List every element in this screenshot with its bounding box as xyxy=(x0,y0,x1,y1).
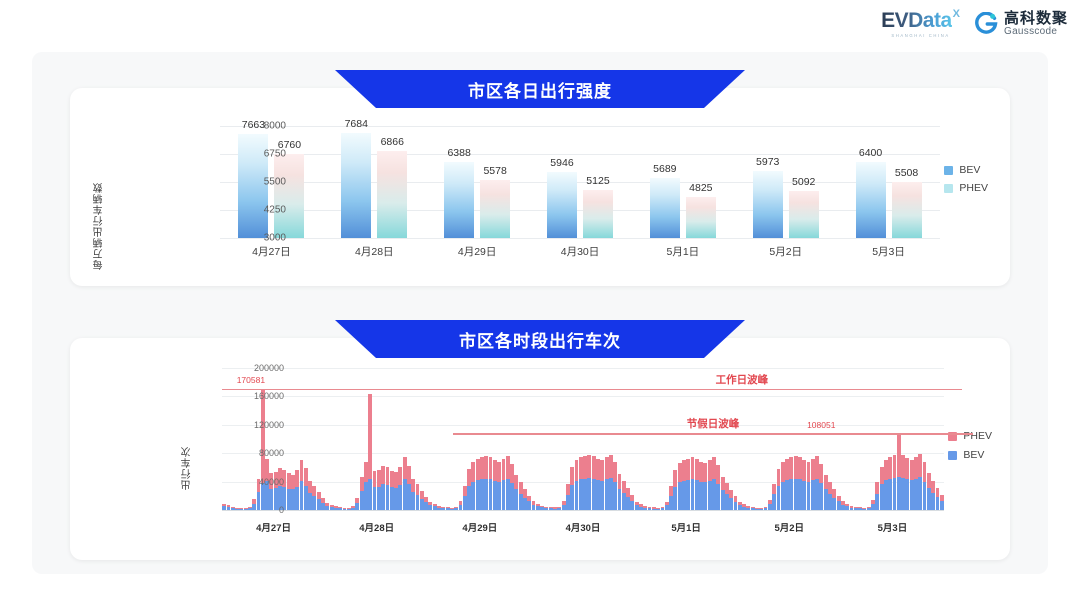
chart1-bar-value-label: 6400 xyxy=(859,147,882,159)
chart2-legend-label-bev: BEV xyxy=(963,449,984,461)
evdata-superscript-x: X xyxy=(953,8,960,20)
chart1-y-tick-label: 8000 xyxy=(264,121,286,132)
chart1-bar-group: 76846866 xyxy=(323,126,426,238)
chart2-y-tick-label: 160000 xyxy=(254,391,284,401)
chart1-x-tick-label: 4月29日 xyxy=(458,244,497,259)
chart1-gridline xyxy=(220,238,940,239)
chart2-weekday-peak-line xyxy=(222,389,962,391)
chart1-bar-value-label: 5092 xyxy=(792,176,815,188)
chart1-bar-group: 59465125 xyxy=(529,126,632,238)
chart2-y-tick-label: 200000 xyxy=(254,363,284,373)
chart1-bar-bev[interactable]: 7684 xyxy=(341,133,371,238)
chart1-x-tick-label: 4月30日 xyxy=(561,244,600,259)
chart1-bar-phev[interactable]: 5125 xyxy=(583,190,613,238)
chart1-bar-group: 56894825 xyxy=(631,126,734,238)
chart2-holiday-peak-line xyxy=(453,433,973,435)
chart1-y-axis-title: 每万辆出行车辆数 xyxy=(92,182,107,270)
chart2-x-tick-label: 5月2日 xyxy=(774,520,804,534)
screenshot-root: EVData X SHANGHAI CHINA 高科数聚 Gausscode 每… xyxy=(0,0,1080,608)
chart2-y-tick-label: 80000 xyxy=(259,448,284,458)
chart1-bar-phev[interactable]: 5508 xyxy=(892,182,922,238)
chart1-bar-bev[interactable]: 6388 xyxy=(444,162,474,238)
gausscode-logo: 高科数聚 Gausscode xyxy=(974,11,1068,37)
chart1-bar-group: 64005508 xyxy=(837,126,940,238)
chart2-y-tick-label: 40000 xyxy=(259,477,284,487)
gausscode-logo-text: 高科数聚 Gausscode xyxy=(1004,11,1068,37)
chart2-x-tick-label: 4月27日 xyxy=(256,520,291,534)
chart2-x-tick-label: 5月3日 xyxy=(878,520,908,534)
chart1-bar-value-label: 5125 xyxy=(586,175,609,187)
gausscode-logo-icon xyxy=(974,12,998,36)
chart1-bar-value-label: 6388 xyxy=(447,147,470,159)
chart1-x-tick-label: 5月1日 xyxy=(667,244,700,259)
chart1-bar-value-label: 4825 xyxy=(689,182,712,194)
chart1-legend-label-bev: BEV xyxy=(959,164,980,176)
chart1-legend-label-phev: PHEV xyxy=(959,182,988,194)
chart2-peak-value-label: 170581 xyxy=(237,375,265,385)
chart-hourly-trip-count: 出行车次 PHEV BEV 04000080000120000160000200… xyxy=(70,338,1010,560)
chart1-legend-swatch-phev xyxy=(944,184,953,193)
chart1-bar-bev[interactable]: 5973 xyxy=(753,171,783,238)
chart1-y-tick-label: 6750 xyxy=(264,149,286,160)
chart1-y-tick-label: 5500 xyxy=(264,177,286,188)
branding-logos: EVData X SHANGHAI CHINA 高科数聚 Gausscode xyxy=(881,10,1068,38)
chart2-legend-swatch-bev xyxy=(948,451,957,460)
chart-card-hourly-trips: 出行车次 PHEV BEV 04000080000120000160000200… xyxy=(70,338,1010,560)
evdata-logo-subtitle: SHANGHAI CHINA xyxy=(891,33,949,38)
chart1-bar-bev[interactable]: 5689 xyxy=(650,178,680,238)
chart1-legend-swatch-bev xyxy=(944,166,953,175)
chart1-bar-group: 59735092 xyxy=(734,126,837,238)
chart1-bar-value-label: 5973 xyxy=(756,156,779,168)
chart2-holiday-peak-label: 节假日波峰 xyxy=(687,416,740,431)
chart1-bar-value-label: 5946 xyxy=(550,157,573,169)
chart1-legend-item-phev[interactable]: PHEV xyxy=(944,182,988,194)
chart-card-daily-intensity: 每万辆出行车辆数 7663676076846866638855785946512… xyxy=(70,88,1010,286)
chart2-y-axis-title: 出行车次 xyxy=(180,446,195,490)
chart2-x-tick-label: 4月29日 xyxy=(462,520,497,534)
chart1-bar-value-label: 6866 xyxy=(381,136,404,148)
chart2-weekday-peak-label: 工作日波峰 xyxy=(716,372,769,387)
chart2-legend-item-phev[interactable]: PHEV xyxy=(948,430,992,442)
chart2-title-ribbon: 市区各时段出行车次 xyxy=(335,320,745,358)
evdata-logo-main: EVData X xyxy=(881,10,960,31)
chart1-y-tick-label: 3000 xyxy=(264,233,286,244)
chart2-x-axis-line xyxy=(222,510,944,511)
chart2-y-tick-label: 120000 xyxy=(254,420,284,430)
chart1-legend-item-bev[interactable]: BEV xyxy=(944,164,988,176)
chart2-x-tick-label: 5月1日 xyxy=(671,520,701,534)
chart1-plot-area: 7663676076846866638855785946512556894825… xyxy=(220,126,940,238)
chart1-title-ribbon: 市区各日出行强度 xyxy=(335,70,745,108)
chart1-x-tick-label: 4月27日 xyxy=(252,244,291,259)
chart1-bar-value-label: 5578 xyxy=(483,165,506,177)
gausscode-name-en: Gausscode xyxy=(1004,27,1068,38)
chart2-legend-label-phev: PHEV xyxy=(963,430,992,442)
chart2-x-tick-label: 4月28日 xyxy=(359,520,394,534)
chart1-bar-phev[interactable]: 5092 xyxy=(789,191,819,238)
chart2-x-tick-label: 4月30日 xyxy=(566,520,601,534)
chart1-bar-bev[interactable]: 6400 xyxy=(856,162,886,238)
chart2-y-tick-label: 0 xyxy=(279,505,284,515)
chart1-legend: BEV PHEV xyxy=(944,164,988,194)
chart1-bar-phev[interactable]: 4825 xyxy=(686,197,716,238)
chart1-x-tick-label: 4月28日 xyxy=(355,244,394,259)
evdata-logo-text: EVData xyxy=(881,10,952,31)
chart2-legend-item-bev[interactable]: BEV xyxy=(948,449,992,461)
chart1-bar-value-label: 5508 xyxy=(895,167,918,179)
chart1-bar-value-label: 7663 xyxy=(242,119,265,131)
chart1-x-tick-label: 5月2日 xyxy=(769,244,802,259)
chart1-bar-value-label: 5689 xyxy=(653,163,676,175)
chart1-bar-phev[interactable]: 6866 xyxy=(377,151,407,238)
chart1-bar-group: 63885578 xyxy=(426,126,529,238)
chart1-bar-bev[interactable]: 5946 xyxy=(547,172,577,238)
chart2-bar-segment-bev xyxy=(940,501,944,510)
chart1-y-tick-label: 4250 xyxy=(264,205,286,216)
chart2-peak-value-label: 108051 xyxy=(807,420,835,430)
chart1-bar-phev[interactable]: 5578 xyxy=(480,180,510,238)
chart1-bar-value-label: 7684 xyxy=(345,118,368,130)
gausscode-name-cn: 高科数聚 xyxy=(1004,11,1068,27)
evdata-logo: EVData X SHANGHAI CHINA xyxy=(881,10,960,38)
chart1-x-tick-label: 5月3日 xyxy=(872,244,905,259)
chart-daily-travel-intensity: 每万辆出行车辆数 7663676076846866638855785946512… xyxy=(70,88,1010,286)
chart1-bar-phev[interactable]: 6760 xyxy=(274,154,304,238)
